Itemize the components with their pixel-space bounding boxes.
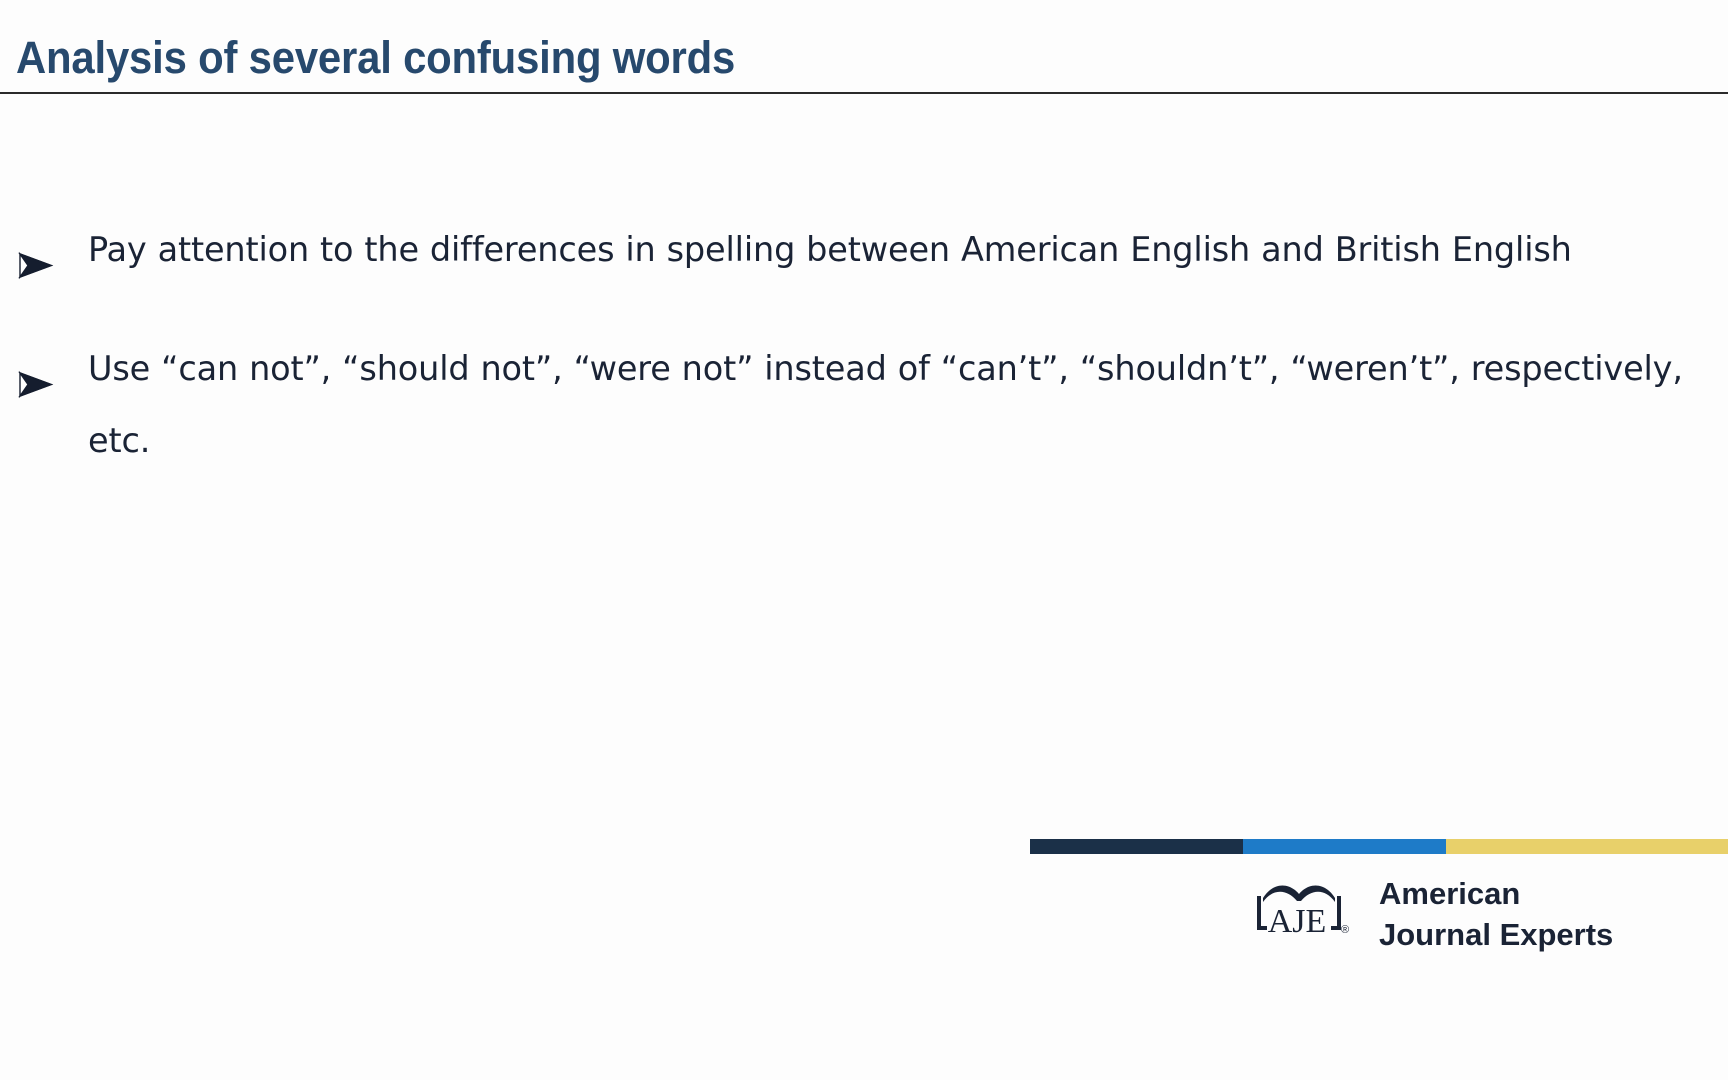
arrow-bullet-icon bbox=[18, 367, 54, 401]
footer-bar-segment-blue bbox=[1243, 839, 1446, 854]
aje-logo: AJE ® American Journal Experts bbox=[1255, 866, 1728, 966]
list-item: Pay attention to the differences in spel… bbox=[0, 214, 1728, 285]
list-item-text: Pay attention to the differences in spel… bbox=[0, 214, 1728, 285]
slide-canvas: Analysis of several confusing words Pay … bbox=[0, 0, 1728, 1080]
svg-text:AJE: AJE bbox=[1268, 903, 1327, 940]
logo-wordmark-line2: Journal Experts bbox=[1379, 915, 1728, 956]
footer-bar-segment-gold bbox=[1446, 839, 1728, 854]
page-title: Analysis of several confusing words bbox=[16, 34, 735, 81]
slide-title-block: Analysis of several confusing words bbox=[0, 34, 1728, 126]
list-item: Use “can not”, “should not”, “were not” … bbox=[0, 333, 1728, 476]
footer-color-bar bbox=[1030, 839, 1728, 854]
footer-bar-segment-navy bbox=[1030, 839, 1243, 854]
registered-trademark-mark: ® bbox=[1341, 924, 1349, 936]
bullet-list: Pay attention to the differences in spel… bbox=[0, 214, 1728, 524]
logo-wordmark-line1: American bbox=[1379, 874, 1728, 915]
title-divider bbox=[0, 92, 1728, 94]
list-item-text: Use “can not”, “should not”, “were not” … bbox=[0, 333, 1728, 476]
arrow-bullet-icon bbox=[18, 248, 54, 282]
logo-wordmark: American Journal Experts bbox=[1379, 874, 1728, 956]
